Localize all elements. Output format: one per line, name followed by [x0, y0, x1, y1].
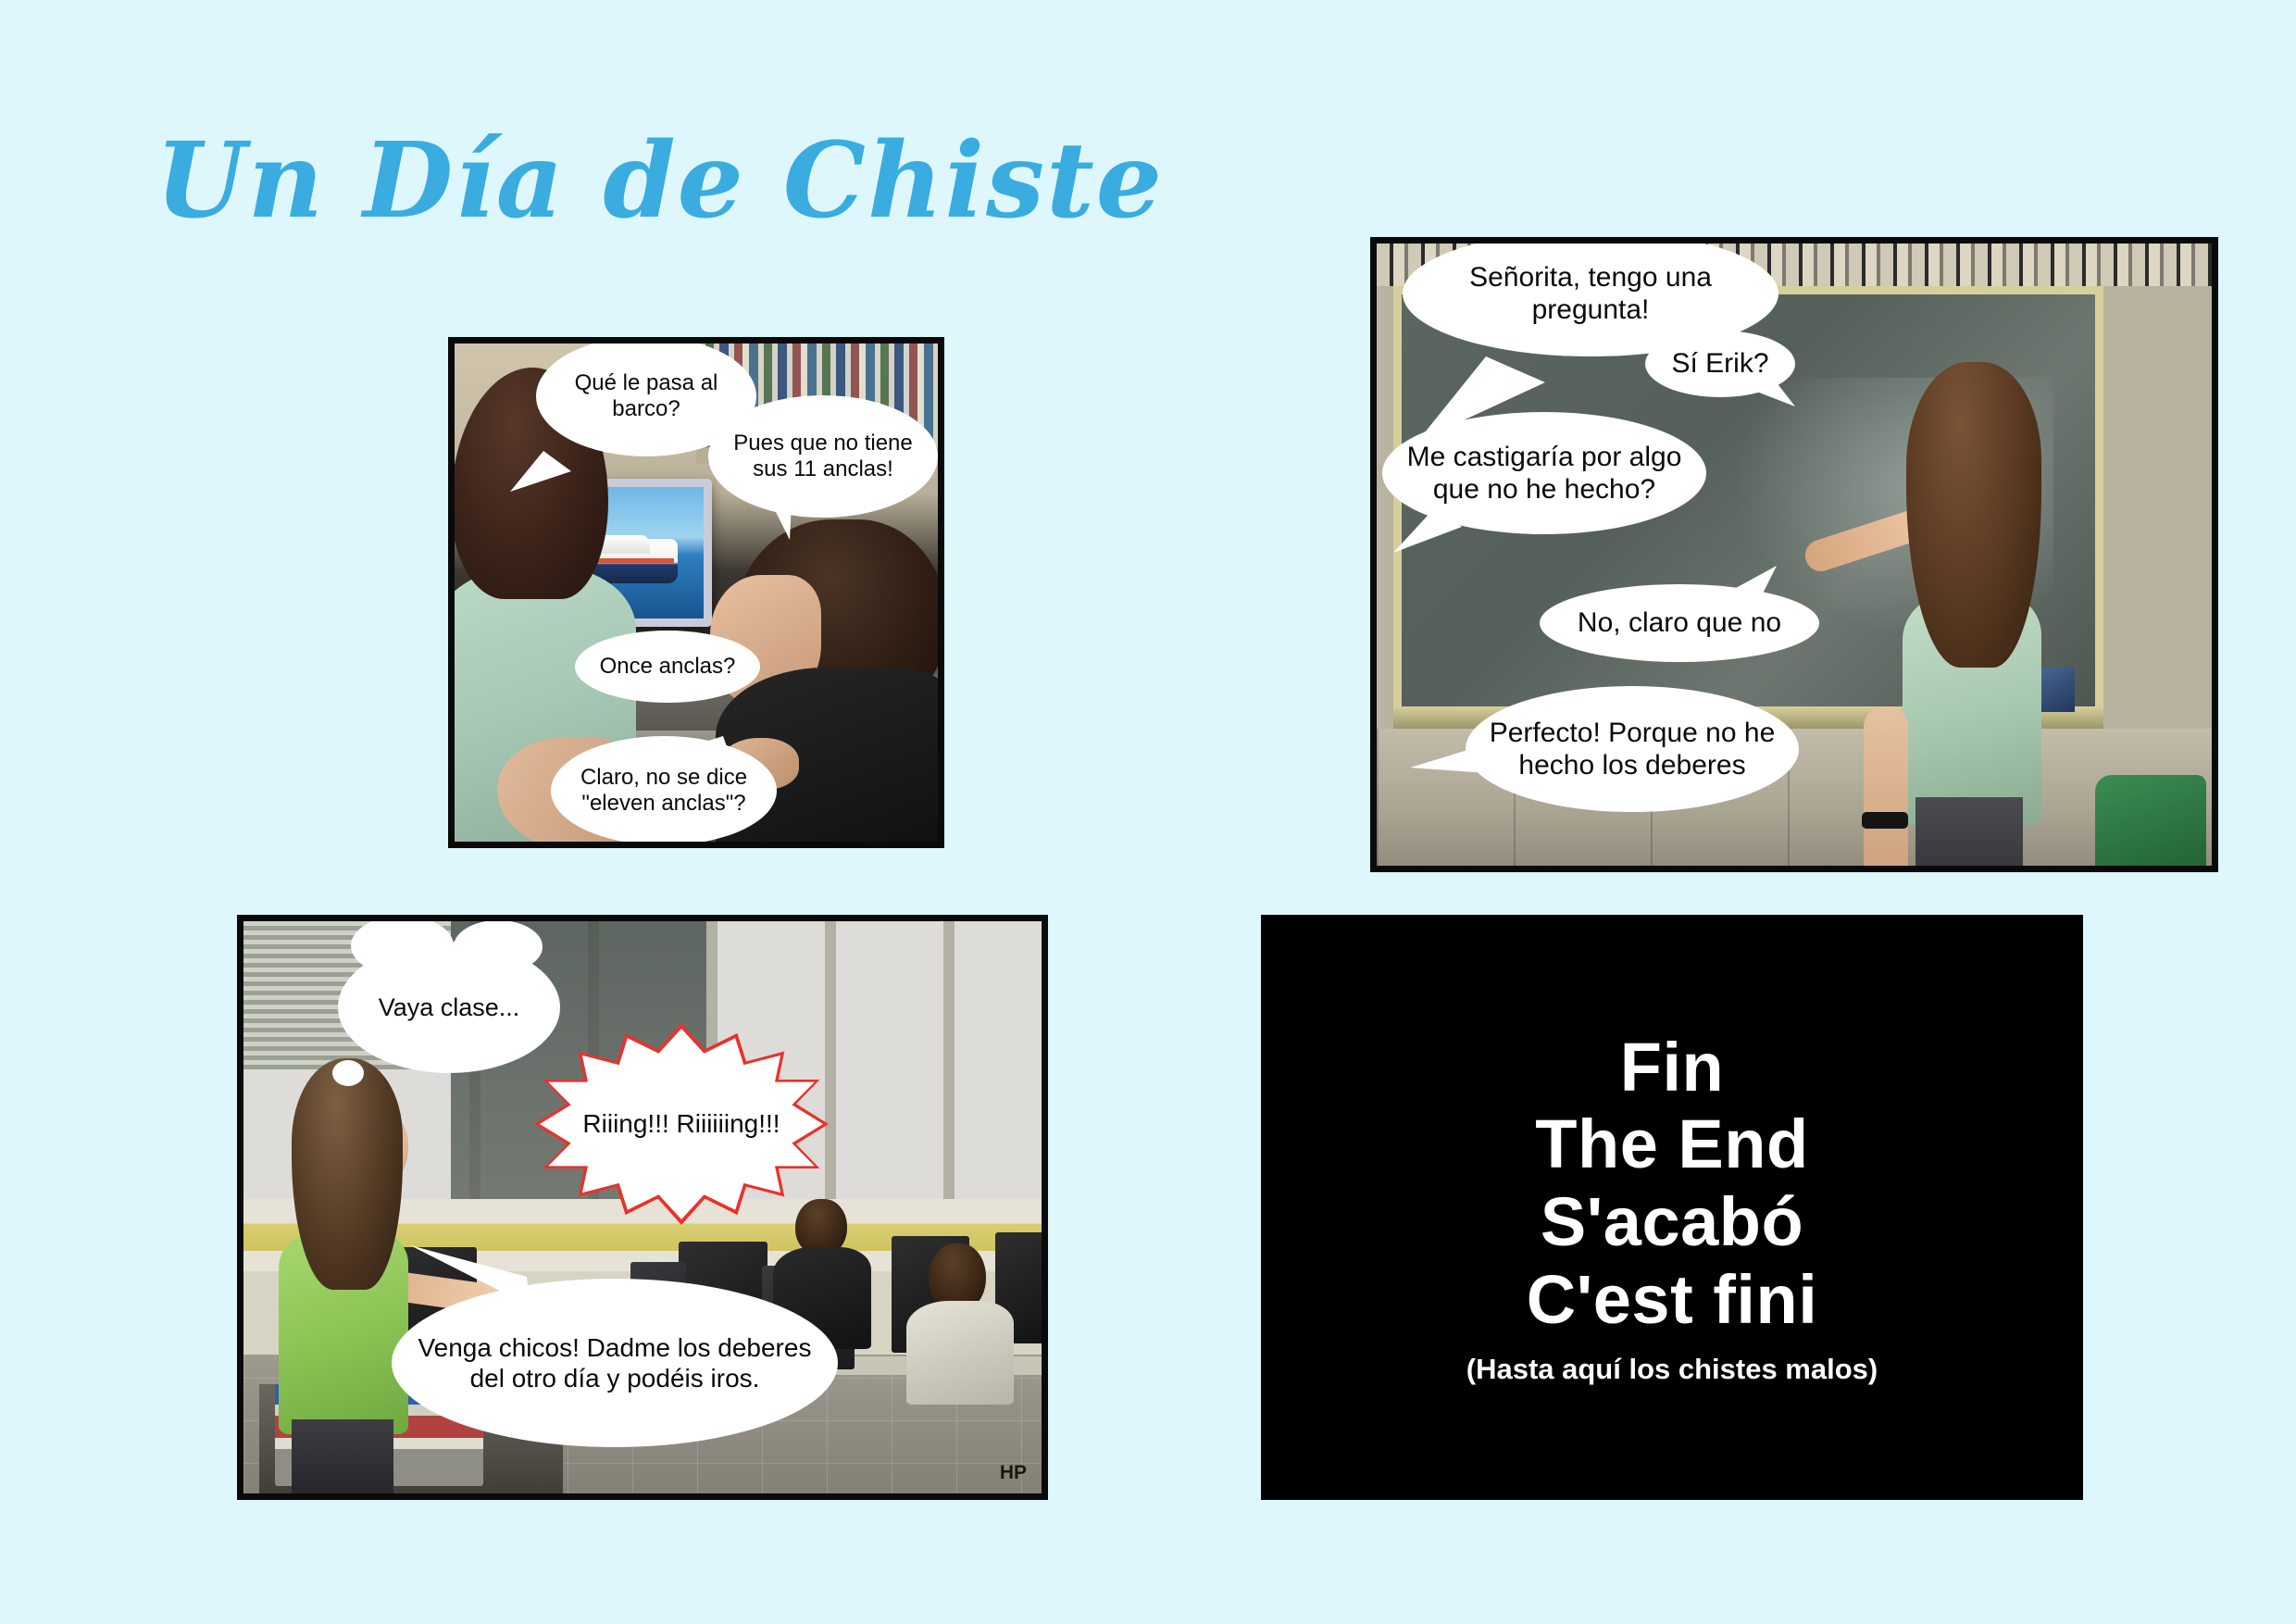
student-girl-body — [906, 1301, 1014, 1405]
end-line-sacabo: S'acabó — [1541, 1183, 1803, 1261]
balloon-venga-chicos: Venga chicos! Dadme los deberes del otro… — [392, 1279, 838, 1447]
balloon-claro-no-se-dice: Claro, no se dice "eleven anclas"? — [551, 736, 777, 845]
balloon-perfecto-deberes: Perfecto! Porque no he hecho los deberes — [1466, 686, 1799, 812]
end-line-the-end: The End — [1535, 1106, 1808, 1183]
balloon-me-castigaria: Me castigaría por algo que no he hecho? — [1382, 412, 1706, 534]
teacher-figure-lab — [260, 1058, 436, 1493]
comic-panel-four: Fin The End S'acabó C'est fini (Hasta aq… — [1261, 915, 2083, 1500]
balloon-no-claro-que-no: No, claro que no — [1540, 584, 1819, 662]
page-title: Un Día de Chiste — [156, 130, 1164, 233]
end-note: (Hasta aquí los chistes malos) — [1466, 1353, 1878, 1386]
comic-panel-one: Qué le pasa al barco? Pues que no tiene … — [448, 337, 944, 848]
student-boy-head — [795, 1199, 847, 1255]
end-line-fin: Fin — [1620, 1029, 1724, 1106]
teacher-long-hair — [292, 1058, 403, 1290]
teacher-dark-trousers — [292, 1419, 393, 1493]
teacher-wristwatch — [1862, 812, 1908, 829]
comic-panel-two: Señorita, tengo una pregunta! Sí Erik? M… — [1370, 237, 2218, 872]
teacher-trousers — [1915, 797, 2023, 866]
balloon-vaya-clase: Vaya clase... — [338, 942, 560, 1073]
teacher-lower-arm — [1864, 706, 1908, 866]
artist-signature: HP — [1000, 1462, 1027, 1484]
teacher-hair — [1906, 362, 2041, 668]
end-line-cest-fini: C'est fini — [1527, 1261, 1818, 1339]
balloon-si-erik: Sí Erik? — [1645, 331, 1795, 397]
teacher-figure — [1858, 362, 2080, 866]
comic-panel-three: HP Vaya clase... Riiing!!! Riiiiiing!!! … — [237, 915, 1048, 1500]
balloon-once-anclas: Once anclas? — [575, 631, 760, 703]
balloon-pues-que-no-tiene: Pues que no tiene sus 11 anclas! — [708, 395, 938, 518]
green-chair — [2095, 775, 2206, 866]
thought-dot-large — [332, 1060, 364, 1086]
